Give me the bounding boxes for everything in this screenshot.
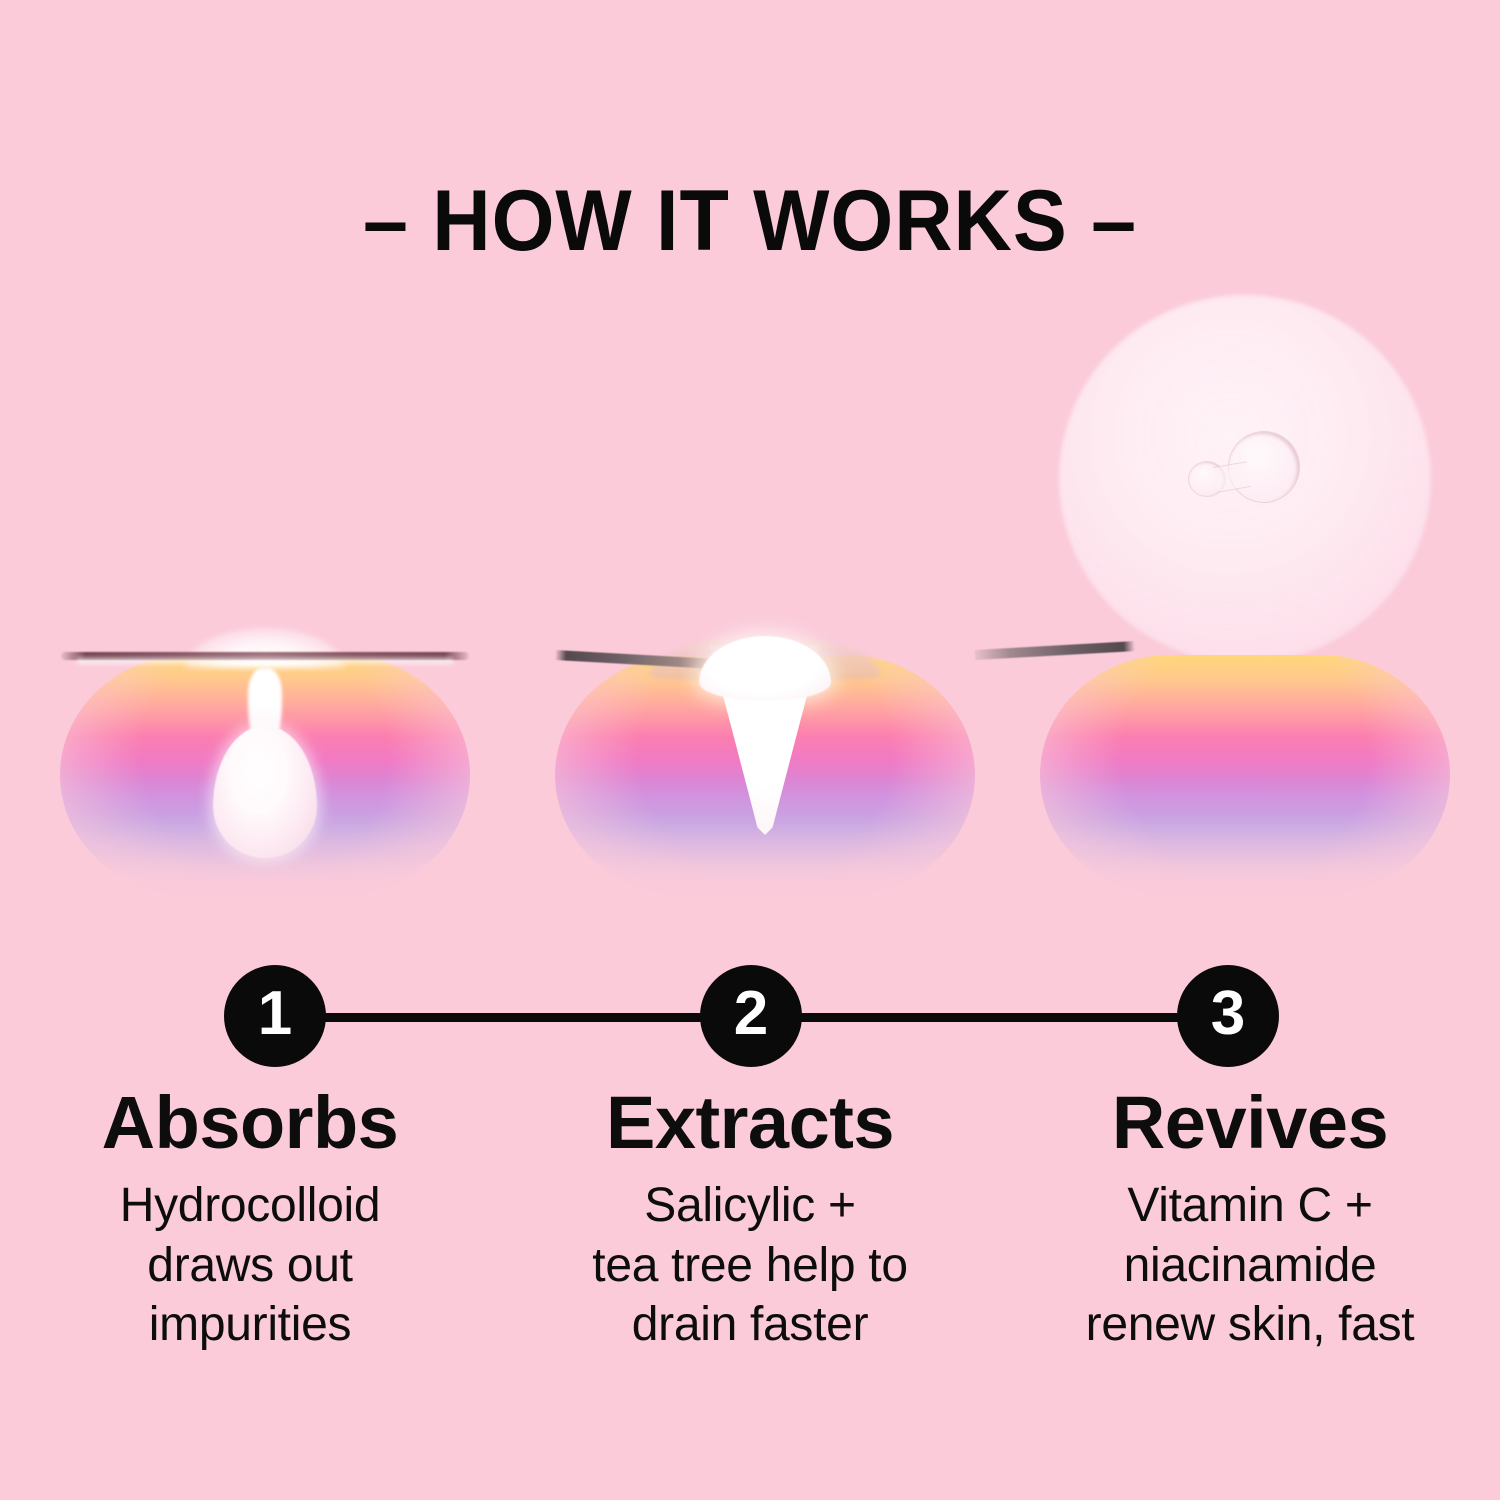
skin-cross-section-icon — [1040, 655, 1450, 895]
step-caption-absorbs: Absorbs Hydrocolloid draws out impuritie… — [0, 1086, 500, 1355]
step-badge-3-number: 3 — [1211, 983, 1245, 1045]
step-caption-revives: Revives Vitamin C + niacinamide renew sk… — [1000, 1086, 1500, 1355]
step-badge-1: 1 — [224, 965, 326, 1067]
step-badge-1-number: 1 — [258, 983, 292, 1045]
step-body-revives: Vitamin C + niacinamide renew skin, fast — [1000, 1176, 1500, 1355]
patch-sheen — [77, 658, 452, 667]
step-caption-extracts: Extracts Salicylic + tea tree help to dr… — [500, 1086, 1000, 1355]
step-badge-2-number: 2 — [734, 983, 768, 1045]
step-title-revives: Revives — [1000, 1086, 1500, 1160]
absorbed-gunk-blob-icon — [1189, 432, 1301, 506]
illustration-row — [0, 0, 1500, 960]
step-body-extracts: Salicylic + tea tree help to drain faste… — [500, 1176, 1000, 1355]
step-body-absorbs: Hydrocolloid draws out impurities — [0, 1176, 500, 1355]
steps-timeline: 1 2 3 — [0, 965, 1500, 1069]
skin-edge-vignette — [1040, 655, 1450, 895]
pimple-teardrop-icon — [213, 668, 317, 864]
pimple-bulb — [213, 726, 317, 858]
step-badge-3: 3 — [1177, 965, 1279, 1067]
illustration-panel-revives — [1000, 0, 1490, 960]
infographic-canvas: – HOW IT WORKS – — [0, 0, 1500, 1500]
illustration-panel-extracts — [520, 0, 1010, 960]
illustration-panel-absorbs — [20, 0, 510, 960]
hydrocolloid-patch-icon — [61, 648, 469, 666]
steps-captions: Absorbs Hydrocolloid draws out impuritie… — [0, 1086, 1500, 1355]
step-title-absorbs: Absorbs — [0, 1086, 500, 1160]
step-title-extracts: Extracts — [500, 1086, 1000, 1160]
step-badge-2: 2 — [700, 965, 802, 1067]
